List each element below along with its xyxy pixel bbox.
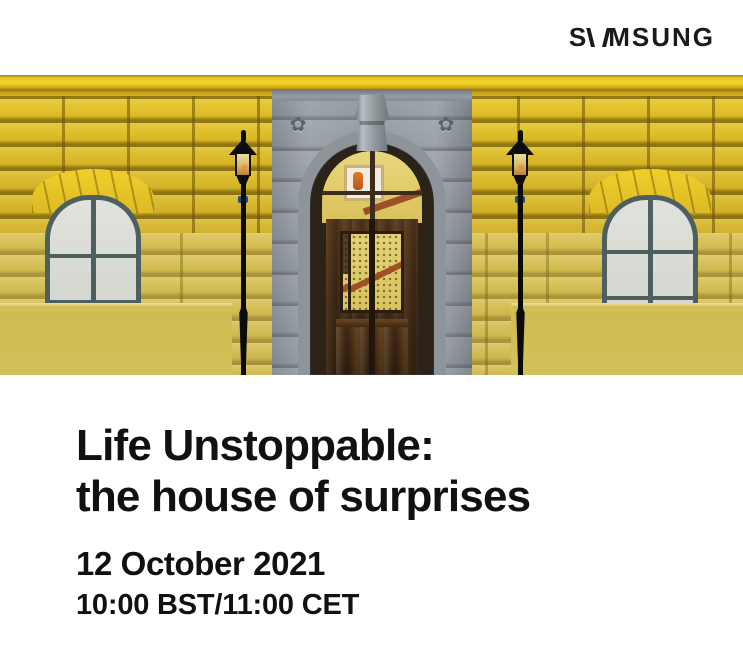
window-transom-right-2 [607,296,693,300]
rosette-icon-right: ✿ [436,115,456,135]
lamp-foot-right [513,301,528,375]
parapet-wall-left [0,303,232,375]
street-lamp-right [505,130,535,375]
lamp-hood-right [506,139,534,155]
lamp-hood-left [229,139,257,155]
arched-entrance-door: ✿ ✿ [272,89,472,375]
announcement-block: Life Unstoppable: the house of surprises… [0,375,743,622]
parapet-wall-right [511,303,743,375]
event-date: 12 October 2021 [76,544,743,584]
logo-letter-a-icon [590,28,607,47]
rosette-icon-left: ✿ [288,115,308,135]
event-time: 10:00 BST/11:00 CET [76,588,743,623]
archivolt-ring [298,131,446,375]
window-transom-left-1 [50,254,136,258]
street-lamp-left [228,130,258,375]
keystone-bracket [355,95,389,151]
logo-text-part-2: MSUNG [608,24,715,50]
lamp-glass-right [512,154,528,176]
lamp-glass-left [235,154,251,176]
window-transom-right-1 [607,250,693,254]
hero-photo: ✿ ✿ [0,75,743,375]
samsung-logo: S MSUNG [569,24,715,50]
page-header: S MSUNG [0,0,743,75]
page-title: Life Unstoppable: the house of surprises [76,420,743,522]
lamp-foot-left [236,301,251,375]
headline-line-2: the house of surprises [76,471,743,522]
headline-line-1: Life Unstoppable: [76,421,434,470]
